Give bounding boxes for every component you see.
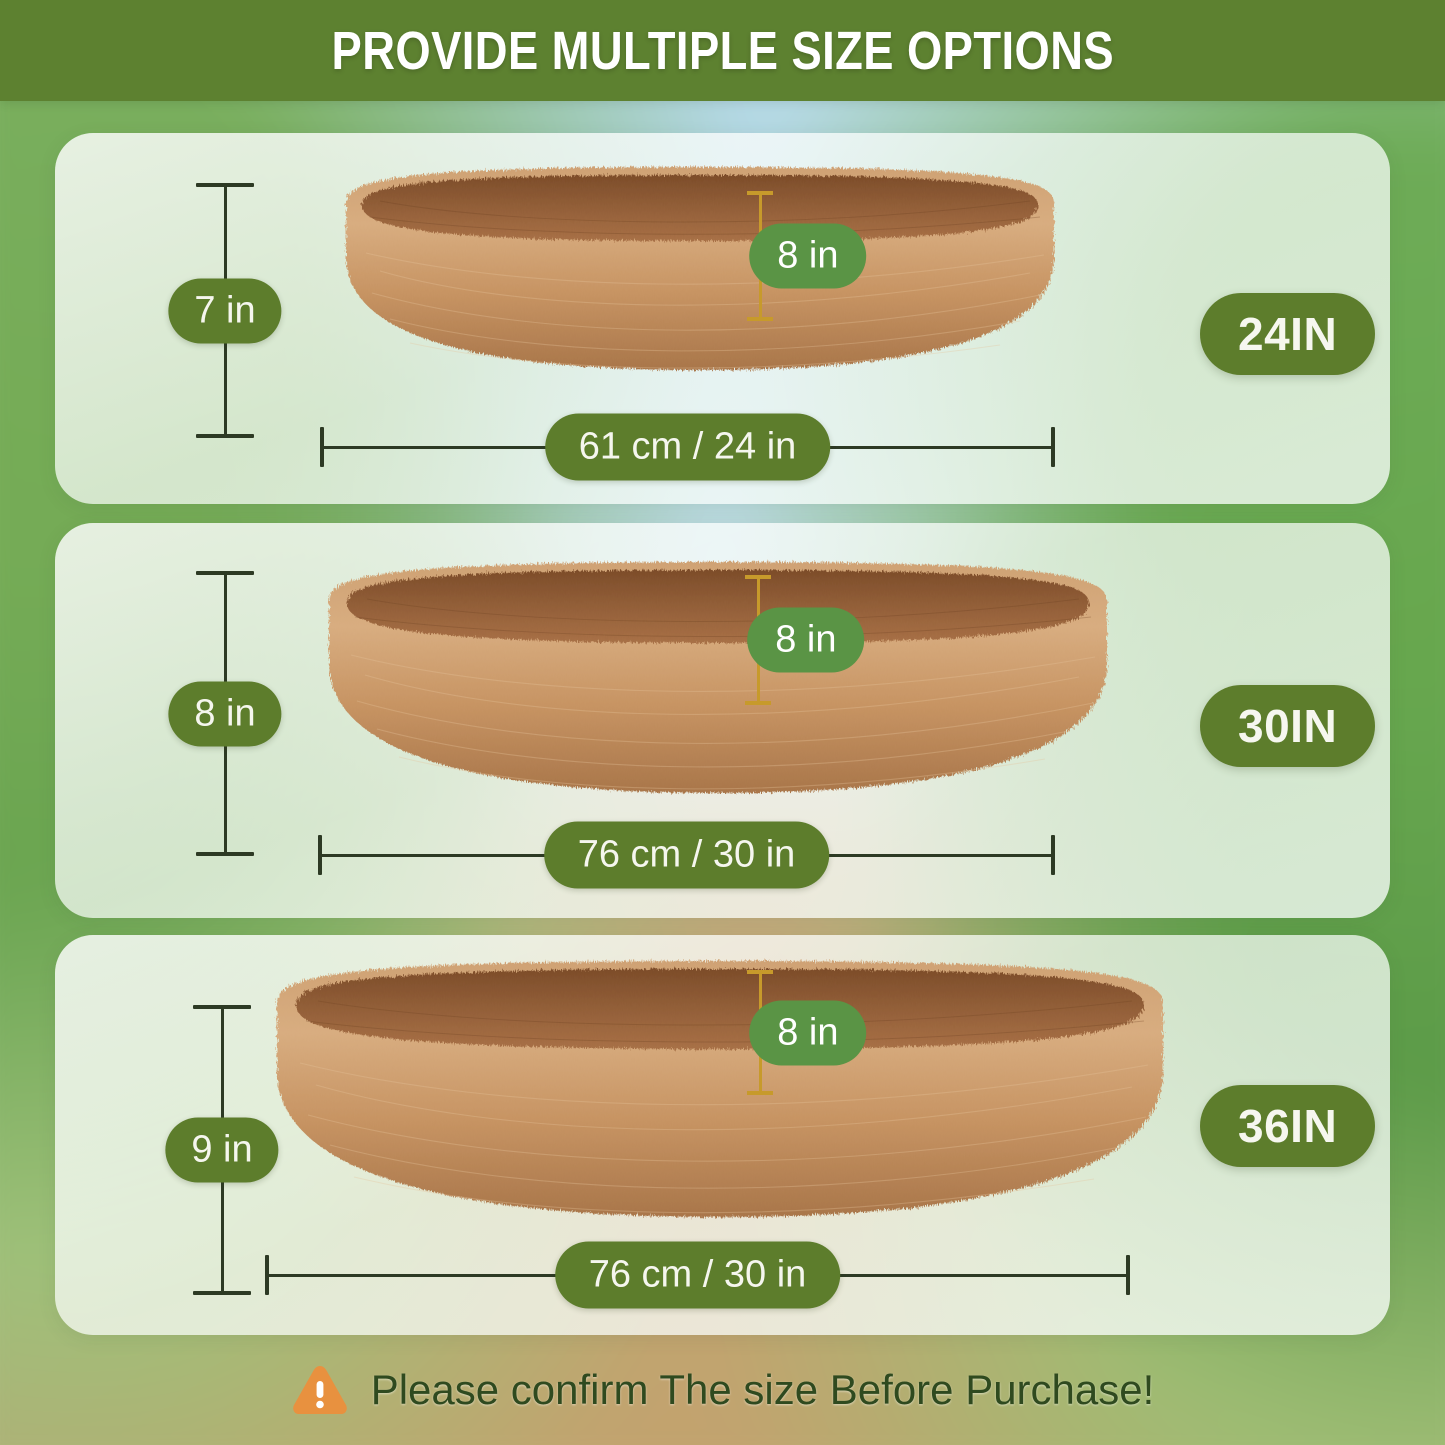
footer-warning: Please confirm The size Before Purchase! <box>0 1352 1445 1428</box>
depth-cap-bottom <box>745 701 771 705</box>
width-cap-right <box>1051 427 1055 467</box>
height-label-badge: 8 in <box>168 681 281 746</box>
height-label-badge: 9 in <box>165 1118 278 1183</box>
dimension-cap-bottom <box>196 852 254 856</box>
width-cap-right <box>1051 835 1055 875</box>
product-image-30in <box>323 555 1113 800</box>
footer-warning-text: Please confirm The size Before Purchase! <box>371 1366 1155 1414</box>
header-banner: PROVIDE MULTIPLE SIZE OPTIONS <box>0 0 1445 101</box>
width-label-badge: 76 cm / 30 in <box>544 822 830 889</box>
size-card-24in: 7 in 8 in 61 cm / 24 in 24IN <box>55 133 1390 504</box>
dimension-cap-bottom <box>193 1291 251 1295</box>
width-label-badge: 76 cm / 30 in <box>555 1242 841 1309</box>
product-image-36in <box>270 953 1170 1225</box>
coco-fiber-liner-illustration <box>340 161 1060 376</box>
size-badge-30in: 30IN <box>1200 685 1375 767</box>
size-card-30in: 8 in 8 in 76 cm / 30 in 30IN <box>55 523 1390 918</box>
depth-dimension-30in: 8 in <box>743 575 773 705</box>
depth-label-badge: 8 in <box>749 1000 866 1065</box>
warning-triangle-icon <box>291 1363 349 1417</box>
height-label-badge: 7 in <box>168 278 281 343</box>
product-image-24in <box>340 161 1060 376</box>
width-dimension-36in: 76 cm / 30 in <box>265 1255 1130 1295</box>
depth-label-badge: 8 in <box>749 224 866 289</box>
depth-cap-bottom <box>747 1091 773 1095</box>
width-label-badge: 61 cm / 24 in <box>545 414 831 481</box>
depth-label-badge: 8 in <box>747 608 864 673</box>
height-dimension-30in: 8 in <box>195 571 255 856</box>
size-badge-36in: 36IN <box>1200 1085 1375 1167</box>
coco-fiber-liner-illustration <box>270 953 1170 1225</box>
size-card-36in: 9 in 8 in 76 cm / 30 in 36IN <box>55 935 1390 1335</box>
size-badge-24in: 24IN <box>1200 293 1375 375</box>
depth-dimension-36in: 8 in <box>745 970 775 1095</box>
depth-dimension-24in: 8 in <box>745 191 775 321</box>
page-title: PROVIDE MULTIPLE SIZE OPTIONS <box>331 20 1114 82</box>
coco-fiber-liner-illustration <box>323 555 1113 800</box>
dimension-cap-bottom <box>196 434 254 438</box>
depth-cap-bottom <box>747 317 773 321</box>
height-dimension-24in: 7 in <box>195 183 255 438</box>
width-cap-right <box>1126 1255 1130 1295</box>
height-dimension-36in: 9 in <box>192 1005 252 1295</box>
width-dimension-24in: 61 cm / 24 in <box>320 427 1055 467</box>
width-dimension-30in: 76 cm / 30 in <box>318 835 1055 875</box>
infographic-stage: PROVIDE MULTIPLE SIZE OPTIONS <box>0 0 1445 1445</box>
